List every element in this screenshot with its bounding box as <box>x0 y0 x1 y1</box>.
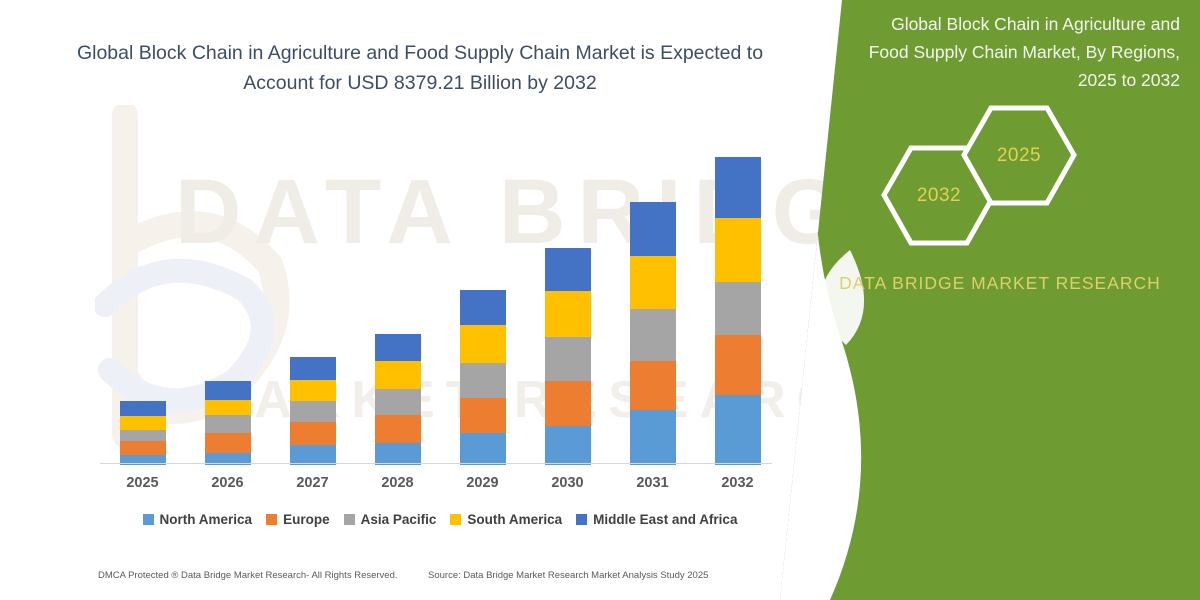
bar-segment[interactable] <box>715 335 761 395</box>
x-axis-label-2029: 2029 <box>445 475 520 491</box>
bar-group-2027[interactable] <box>290 357 336 465</box>
panel-title: Global Block Chain in Agriculture and Fo… <box>860 10 1180 94</box>
legend-swatch-icon <box>143 514 154 525</box>
bar-segment[interactable] <box>545 426 591 465</box>
legend-item[interactable]: Middle East and Africa <box>576 512 737 527</box>
legend-label: South America <box>467 512 562 527</box>
legend-label: Europe <box>283 512 330 527</box>
bar-segment[interactable] <box>545 337 591 381</box>
bar-segment[interactable] <box>375 334 421 361</box>
footer-source: Source: Data Bridge Market Research Mark… <box>428 570 708 581</box>
brand-name: DATA BRIDGE MARKET RESEARCH <box>820 268 1180 298</box>
bar-segment[interactable] <box>545 291 591 337</box>
bar-segment[interactable] <box>460 325 506 363</box>
bar-segment[interactable] <box>205 433 251 453</box>
legend-item[interactable]: Asia Pacific <box>344 512 437 527</box>
legend-label: Middle East and Africa <box>593 512 737 527</box>
stacked-bar-chart <box>100 140 780 465</box>
bar-group-2025[interactable] <box>120 401 166 465</box>
bar-segment[interactable] <box>290 380 336 401</box>
legend-item[interactable]: South America <box>450 512 562 527</box>
bar-segment[interactable] <box>375 443 421 465</box>
bar-segment[interactable] <box>630 256 676 309</box>
x-axis-label-2028: 2028 <box>360 475 435 491</box>
chart-panel: Global Block Chain in Agriculture and Fo… <box>0 0 860 600</box>
infographic-canvas: DATA BRIDGE MARKET RESEARCH Global Block… <box>0 0 1200 600</box>
hexagon-2025-label: 2025 <box>997 145 1041 167</box>
bar-segment[interactable] <box>375 389 421 415</box>
x-axis-label-2032: 2032 <box>700 475 775 491</box>
legend-label: North America <box>160 512 253 527</box>
bar-segment[interactable] <box>120 416 166 430</box>
bar-segment[interactable] <box>290 445 336 465</box>
legend-item[interactable]: Europe <box>266 512 330 527</box>
x-axis-label-2031: 2031 <box>615 475 690 491</box>
bar-segment[interactable] <box>630 410 676 465</box>
hexagon-2032-label: 2032 <box>917 185 961 207</box>
bar-segment[interactable] <box>120 430 166 441</box>
bar-segment[interactable] <box>630 361 676 410</box>
bar-segment[interactable] <box>630 309 676 361</box>
legend-item[interactable]: North America <box>143 512 253 527</box>
legend-swatch-icon <box>266 514 277 525</box>
bar-segment[interactable] <box>715 395 761 465</box>
bar-group-2031[interactable] <box>630 202 676 465</box>
bar-segment[interactable] <box>375 361 421 389</box>
bar-segment[interactable] <box>205 415 251 433</box>
bar-segment[interactable] <box>290 401 336 422</box>
bar-segment[interactable] <box>205 381 251 400</box>
legend-swatch-icon <box>576 514 587 525</box>
bar-segment[interactable] <box>120 401 166 416</box>
chart-legend: North AmericaEuropeAsia PacificSouth Ame… <box>100 512 780 527</box>
bar-segment[interactable] <box>545 381 591 426</box>
x-axis-labels: 20252026202720282029203020312032 <box>100 475 780 497</box>
bar-segment[interactable] <box>460 433 506 465</box>
bar-group-2029[interactable] <box>460 290 506 465</box>
hexagon-2025: 2025 <box>960 103 1078 208</box>
x-axis-line <box>100 463 772 464</box>
bar-segment[interactable] <box>290 422 336 445</box>
bar-group-2032[interactable] <box>715 157 761 465</box>
bar-segment[interactable] <box>205 400 251 415</box>
page-title: Global Block Chain in Agriculture and Fo… <box>70 38 770 98</box>
x-axis-label-2025: 2025 <box>105 475 180 491</box>
bar-segment[interactable] <box>630 202 676 256</box>
bar-segment[interactable] <box>290 357 336 380</box>
bar-segment[interactable] <box>460 290 506 325</box>
legend-swatch-icon <box>344 514 355 525</box>
bar-segment[interactable] <box>545 248 591 291</box>
legend-label: Asia Pacific <box>361 512 437 527</box>
x-axis-label-2026: 2026 <box>190 475 265 491</box>
brand-panel: Global Block Chain in Agriculture and Fo… <box>780 0 1200 600</box>
bar-segment[interactable] <box>120 441 166 455</box>
bar-segment[interactable] <box>460 398 506 433</box>
footer-copyright: DMCA Protected ® Data Bridge Market Rese… <box>98 570 398 581</box>
bar-segment[interactable] <box>715 157 761 218</box>
x-axis-label-2030: 2030 <box>530 475 605 491</box>
x-axis-label-2027: 2027 <box>275 475 350 491</box>
bar-segment[interactable] <box>715 218 761 282</box>
hexagon-group: 2032 2025 <box>880 105 1130 230</box>
legend-swatch-icon <box>450 514 461 525</box>
bar-group-2030[interactable] <box>545 248 591 465</box>
bar-group-2028[interactable] <box>375 334 421 465</box>
bar-segment[interactable] <box>375 415 421 443</box>
bar-segment[interactable] <box>460 363 506 398</box>
bar-segment[interactable] <box>715 282 761 335</box>
bar-group-2026[interactable] <box>205 381 251 465</box>
